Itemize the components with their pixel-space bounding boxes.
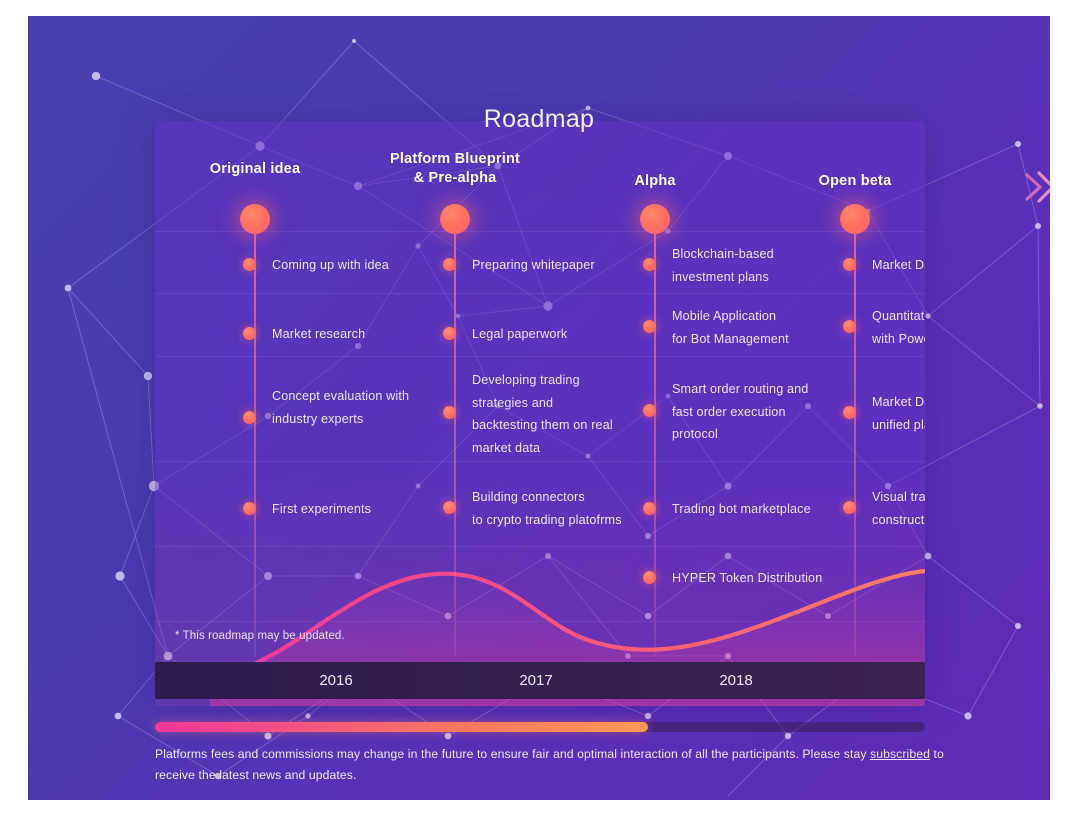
timeline-year-bar: 2016 2017 2018 (155, 662, 925, 699)
roadmap-footnote: * This roadmap may be updated. (175, 630, 345, 642)
year-label-2017: 2017 (491, 672, 581, 689)
progress-bar-fill (155, 722, 648, 732)
column-timeline-line (654, 217, 656, 657)
roadmap-card: Original idea Coming up with idea Market… (155, 121, 925, 706)
item-dot-icon (643, 320, 656, 333)
item-dot-icon (443, 327, 456, 340)
milestone-marker[interactable] (840, 204, 870, 234)
page-canvas: Roadmap (28, 16, 1050, 800)
item-label: Visual trading strategy constructor (872, 486, 925, 531)
item-dot-icon (643, 404, 656, 417)
item-dot-icon (843, 501, 856, 514)
item-dot-icon (443, 501, 456, 514)
column-timeline-line (254, 217, 256, 657)
item-dot-icon (243, 502, 256, 515)
roadmap-column-open-beta: Open beta Market Data Aggregation Quanti… (755, 121, 925, 706)
roadmap-column-original-idea: Original idea Coming up with idea Market… (155, 121, 355, 706)
column-title: Original idea (155, 160, 355, 179)
item-dot-icon (243, 411, 256, 424)
double-chevron-right-icon[interactable] (1020, 163, 1050, 211)
column-title: Alpha (555, 172, 755, 191)
milestone-marker[interactable] (640, 204, 670, 234)
column-timeline-line (454, 217, 456, 657)
column-title: Open beta (755, 172, 925, 191)
item-label: Market Data Aggregation (872, 254, 925, 277)
item-dot-icon (443, 258, 456, 271)
footer-disclaimer: Platforms fees and commissions may chang… (155, 744, 945, 786)
progress-bar-track[interactable] (155, 722, 925, 732)
year-label-2016: 2016 (291, 672, 381, 689)
item-dot-icon (243, 327, 256, 340)
column-title: Platform Blueprint & Pre-alpha (355, 150, 555, 188)
item-dot-icon (443, 406, 456, 419)
roadmap-column-platform-blueprint: Platform Blueprint & Pre-alpha Preparing… (355, 121, 555, 706)
item-dot-icon (643, 258, 656, 271)
roadmap-column-alpha: Alpha Blockchain-based investment plans … (555, 121, 755, 706)
item-label: Quantitative Strategies with Powerful En… (872, 305, 925, 350)
footer-text-before: Platforms fees and commissions may chang… (155, 747, 870, 761)
milestone-marker[interactable] (240, 204, 270, 234)
item-label: Market Data Analysis in a unified platfo… (872, 391, 925, 436)
item-dot-icon (643, 571, 656, 584)
milestone-marker[interactable] (440, 204, 470, 234)
item-dot-icon (243, 258, 256, 271)
item-dot-icon (843, 258, 856, 271)
year-label-2018: 2018 (691, 672, 781, 689)
page-title: Roadmap (28, 105, 1050, 134)
item-dot-icon (843, 406, 856, 419)
subscribed-link[interactable]: subscribed (870, 747, 930, 761)
column-timeline-line (854, 217, 856, 657)
item-dot-icon (643, 502, 656, 515)
item-dot-icon (843, 320, 856, 333)
